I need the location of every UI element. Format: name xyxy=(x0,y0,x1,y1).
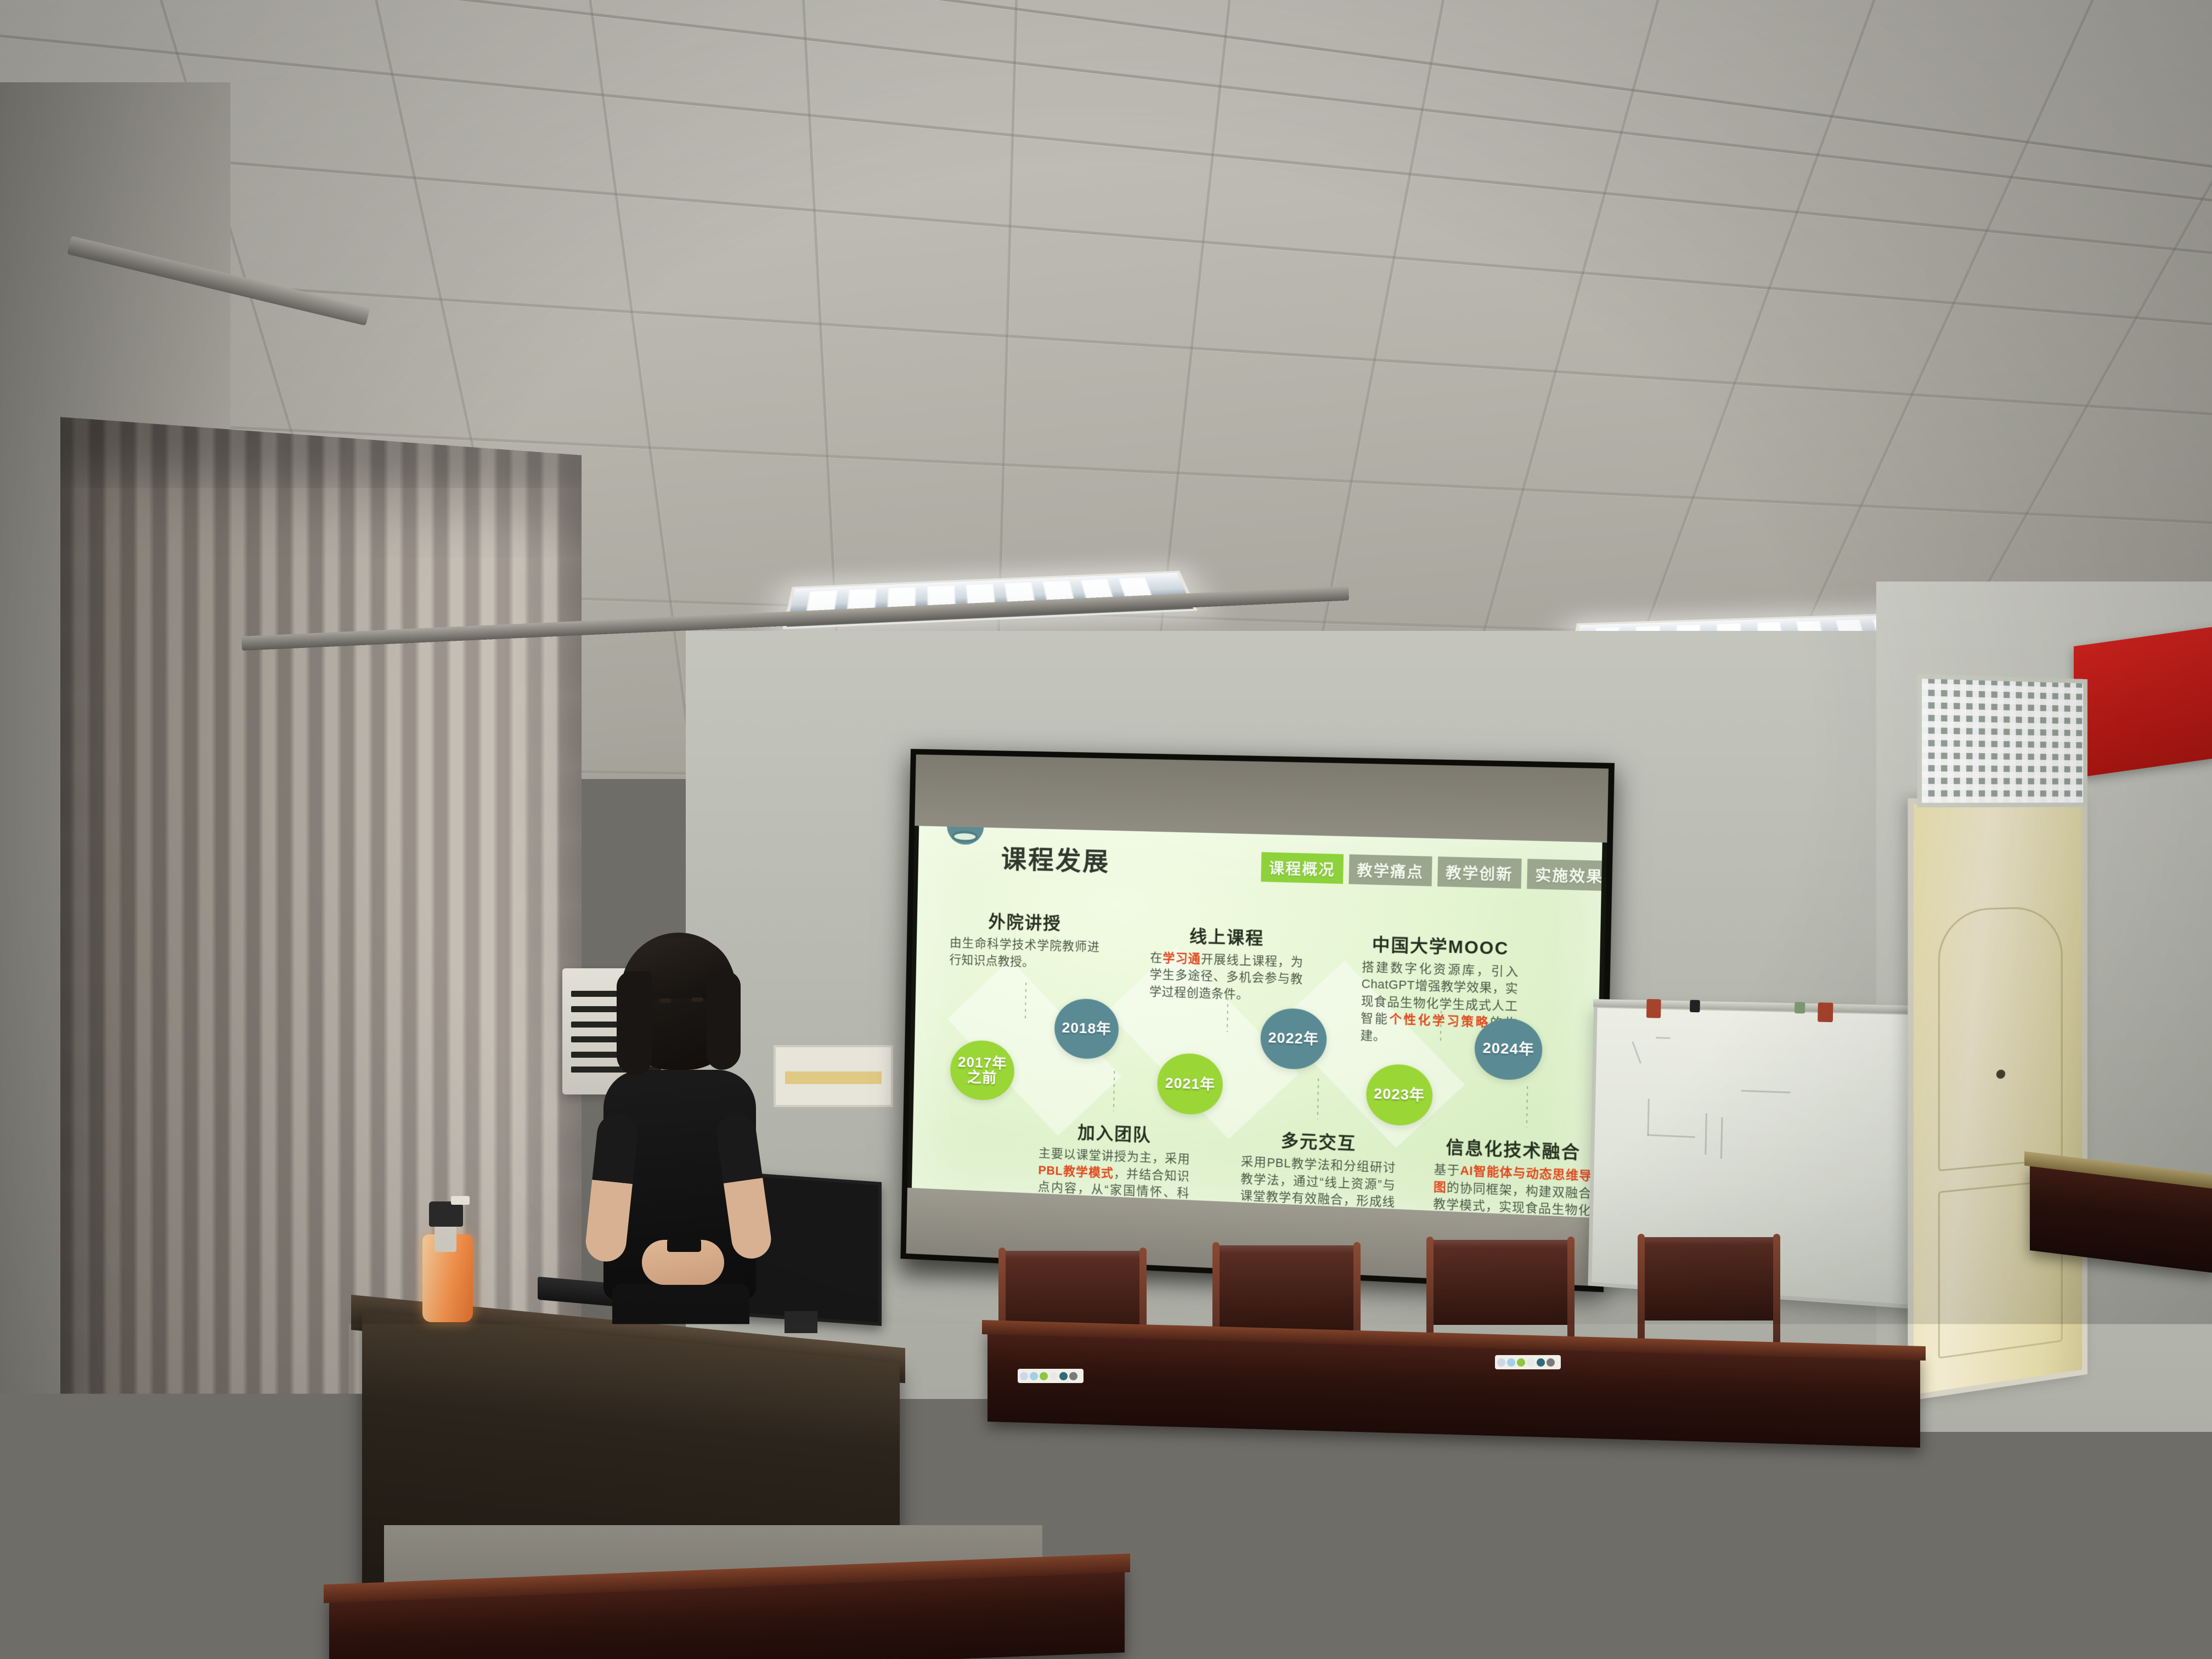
projected-slide: 课程发展 课程概况 教学痛点 教学创新 实施效果 外院讲授 由生命科学技术学院教… xyxy=(912,826,1602,1217)
block-heading: 信息化技术融合 xyxy=(1434,1132,1593,1164)
tab-teaching-innovation[interactable]: 教学创新 xyxy=(1437,856,1522,889)
slide-title: 课程发展 xyxy=(1001,839,1110,878)
timeline-block-it-integration: 信息化技术融合 基于AI智能体与动态思维导图的协同框架，构建双融合教学模式，实现… xyxy=(1432,1132,1593,1218)
slide-tab-bar: 课程概况 教学痛点 教学创新 实施效果 xyxy=(1261,852,1602,891)
chair-back xyxy=(1212,1245,1361,1330)
whiteboard-sketch xyxy=(1720,1117,1723,1159)
block-highlight: PBL教学模式 xyxy=(1038,1163,1114,1180)
block-body: 在学习通开展线上课程，为学生多途径、多机会参与教学过程创造条件。 xyxy=(1149,949,1304,1005)
block-highlight: 学习通 xyxy=(1163,951,1201,966)
door-panel-upper xyxy=(1938,906,2063,1171)
chair-post xyxy=(1781,1511,1788,1610)
presenter-hair-right xyxy=(707,971,741,1070)
block-body: 基于AI智能体与动态思维导图的协同框架，构建双融合教学模式，实现食品生物化学复杂… xyxy=(1432,1161,1592,1217)
timeline-node-2017: 2017年 之前 xyxy=(950,1040,1014,1102)
block-highlight: 个性化学习策略 xyxy=(1389,1013,1490,1030)
block-heading: 加入团队 xyxy=(1039,1116,1190,1148)
chair-back xyxy=(1426,1240,1575,1325)
whiteboard-clip[interactable] xyxy=(1795,1002,1805,1013)
whiteboard-sketch xyxy=(1741,1090,1791,1093)
spray-bottle-neck xyxy=(435,1224,456,1252)
timeline-node-2018: 2018年 xyxy=(1054,998,1120,1060)
whiteboard-clip[interactable] xyxy=(1646,999,1661,1018)
tab-teaching-painpoints[interactable]: 教学痛点 xyxy=(1348,854,1432,886)
course-development-timeline: 外院讲授 由生命科学技术学院教师进行知识点教授。 线上课程 在学习通开展线上课程… xyxy=(912,906,1601,1218)
whiteboard-clip[interactable] xyxy=(1818,1002,1833,1022)
classroom-scene: 课程发展 课程概况 教学痛点 教学创新 实施效果 外院讲授 由生命科学技术学院教… xyxy=(0,0,2212,1659)
timeline-node-2021: 2021年 xyxy=(1157,1053,1223,1115)
presenter-skirt xyxy=(612,1284,749,1591)
projection-screen: 课程发展 课程概况 教学痛点 教学创新 实施效果 外院讲授 由生命科学技术学院教… xyxy=(900,749,1615,1292)
timeline-block-outside-lecture: 外院讲授 由生命科学技术学院教师进行知识点教授。 xyxy=(949,906,1101,973)
lattice-transom-window xyxy=(1917,674,2087,808)
tab-course-overview[interactable]: 课程概况 xyxy=(1261,852,1344,884)
spray-bottle-nozzle xyxy=(451,1196,470,1205)
whiteboard-sketch xyxy=(1705,1113,1707,1155)
desk-sticker-badge xyxy=(1018,1369,1084,1383)
whiteboard-sketch xyxy=(1632,1041,1641,1064)
spray-bottle-trigger xyxy=(429,1201,463,1227)
circle-pin-icon xyxy=(946,826,984,845)
timeline-block-online-course: 线上课程 在学习通开展线上课程，为学生多途径、多机会参与教学过程创造条件。 xyxy=(1149,921,1304,1005)
chair-post xyxy=(1662,1511,1669,1610)
presenter-eye-left xyxy=(659,998,672,1003)
whiteboard-clip[interactable] xyxy=(1690,1000,1700,1013)
block-heading: 中国大学MOOC xyxy=(1362,930,1520,960)
block-heading: 线上课程 xyxy=(1150,921,1304,950)
whiteboard-sketch xyxy=(1647,1099,1649,1136)
presentation-clicker[interactable] xyxy=(667,1239,701,1252)
desk-sticker-badge xyxy=(1495,1355,1561,1369)
block-heading: 多元交互 xyxy=(1241,1125,1396,1156)
classroom-door[interactable] xyxy=(1908,798,2087,1401)
whiteboard-sketch xyxy=(1647,1134,1695,1138)
chair-back xyxy=(1662,1514,1788,1576)
block-heading: 外院讲授 xyxy=(950,906,1100,935)
timeline-node-2023: 2023年 xyxy=(1365,1063,1434,1126)
presenter-hair-left xyxy=(617,971,652,1075)
red-wall-banner xyxy=(2074,627,2212,778)
presenter xyxy=(560,933,790,1591)
presenter-eye-right xyxy=(691,997,703,1002)
chair[interactable] xyxy=(1662,1514,1788,1613)
spray-bottle[interactable] xyxy=(422,1196,473,1322)
whiteboard-sketch xyxy=(1656,1037,1670,1039)
wall-socket-panel[interactable] xyxy=(774,1045,893,1107)
block-body: 由生命科学技术学院教师进行知识点教授。 xyxy=(949,934,1100,973)
chair-back xyxy=(1638,1237,1780,1321)
timeline-node-2022: 2022年 xyxy=(1260,1007,1327,1070)
tab-implementation-effect[interactable]: 实施效果 xyxy=(1527,859,1602,891)
timeline-node-2024: 2024年 xyxy=(1474,1018,1543,1081)
